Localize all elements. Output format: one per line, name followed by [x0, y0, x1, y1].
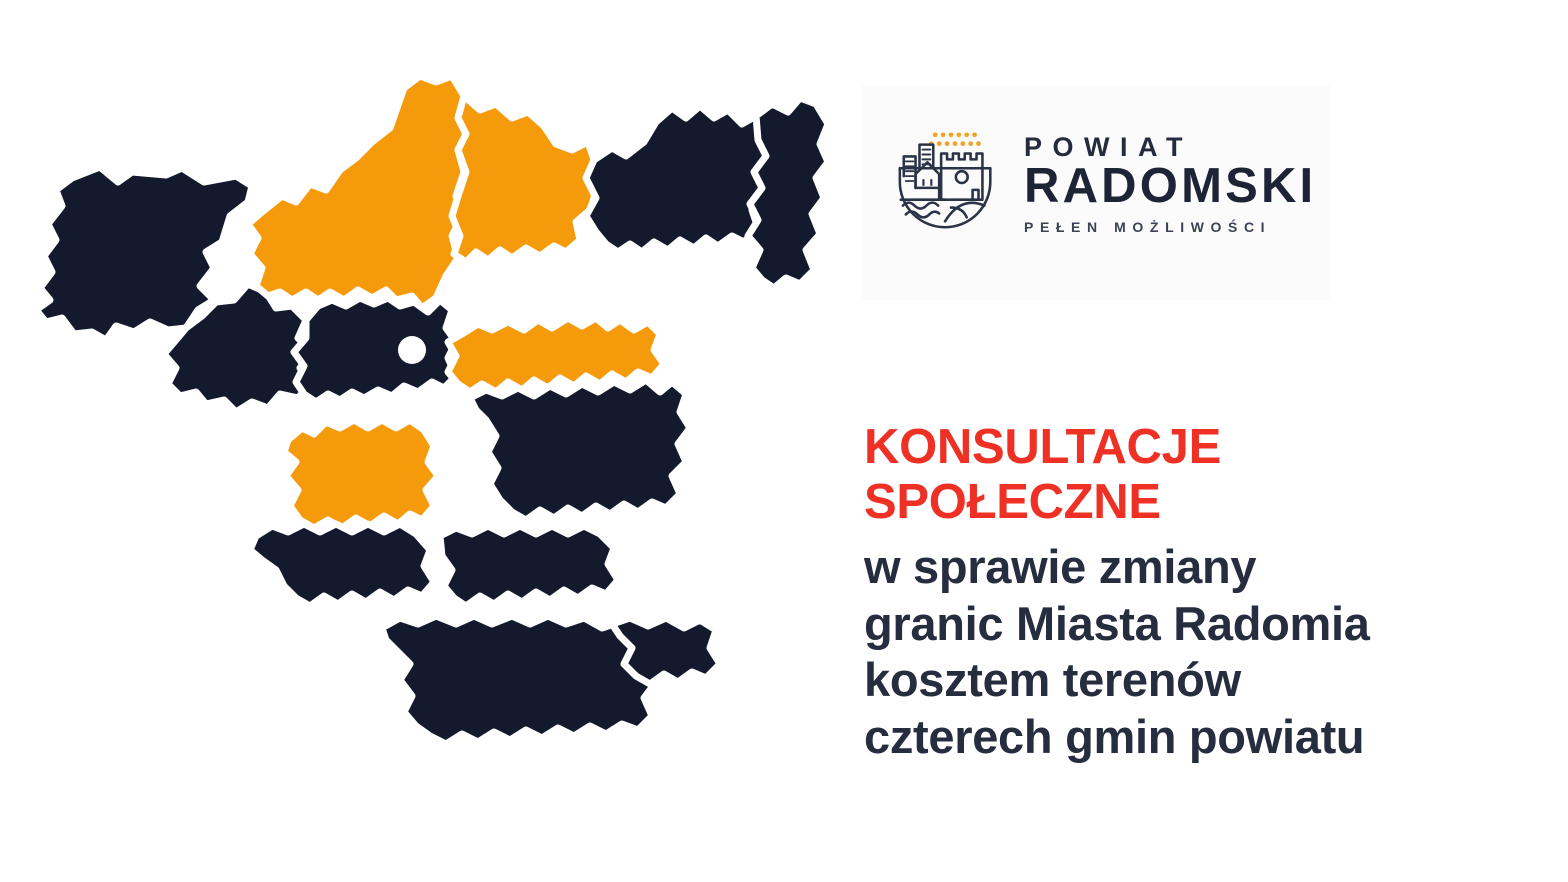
- logo-line-radomski: RADOMSKI: [1024, 162, 1316, 212]
- logo-panel: POWIAT RADOMSKI PEŁEN MOŻLIWOŚCI: [862, 85, 1330, 300]
- map-region-gozd[interactable]: [448, 318, 664, 392]
- headline-dark-line-3: kosztem terenów: [864, 652, 1544, 709]
- headline-red: KONSULTACJE SPOŁECZNE: [864, 420, 1544, 531]
- map-region-jastrzebia[interactable]: [452, 96, 596, 262]
- map-region-wierzbica[interactable]: [250, 524, 434, 606]
- map-region-ilza[interactable]: [382, 616, 656, 744]
- headline-dark-line-2: granic Miasta Radomia: [864, 596, 1544, 653]
- map-region-skaryszew[interactable]: [470, 380, 690, 520]
- logo-line-powiat: POWIAT: [1024, 134, 1316, 161]
- map-region-pionki[interactable]: [748, 98, 828, 288]
- right-column: POWIAT RADOMSKI PEŁEN MOŻLIWOŚCI KONSULT…: [840, 0, 1568, 882]
- map-region-radom-surroundings[interactable]: [294, 298, 456, 402]
- logo-tagline: PEŁEN MOŻLIWOŚCI: [1024, 220, 1316, 234]
- headline-red-line-1: KONSULTACJE: [864, 420, 1221, 474]
- headline-block: KONSULTACJE SPOŁECZNE w sprawie zmiany g…: [864, 420, 1544, 766]
- headline-dark: w sprawie zmiany granic Miasta Radomia k…: [864, 531, 1544, 766]
- map-region-south-central[interactable]: [440, 526, 618, 606]
- stars-ornament-icon: [929, 132, 981, 146]
- map-svg: [0, 0, 840, 882]
- headline-dark-line-1: w sprawie zmiany: [864, 539, 1544, 596]
- poster-canvas: POWIAT RADOMSKI PEŁEN MOŻLIWOŚCI KONSULT…: [0, 0, 1568, 882]
- map-region-jedlinsk[interactable]: [248, 76, 466, 308]
- logo-lockup: POWIAT RADOMSKI PEŁEN MOŻLIWOŚCI: [890, 117, 1320, 247]
- powiat-radomski-crest-icon: [890, 123, 1008, 241]
- map-of-powiat-radomski: [0, 0, 840, 882]
- map-region-jedlnia-letnisko[interactable]: [586, 106, 772, 252]
- headline-red-line-2: SPOŁECZNE: [864, 475, 1161, 529]
- radom-city-marker-icon: [398, 336, 426, 364]
- headline-dark-line-4: czterech gmin powiatu: [864, 709, 1544, 766]
- logo-wordmark: POWIAT RADOMSKI PEŁEN MOŻLIWOŚCI: [1024, 130, 1316, 235]
- map-region-kowala[interactable]: [284, 420, 438, 528]
